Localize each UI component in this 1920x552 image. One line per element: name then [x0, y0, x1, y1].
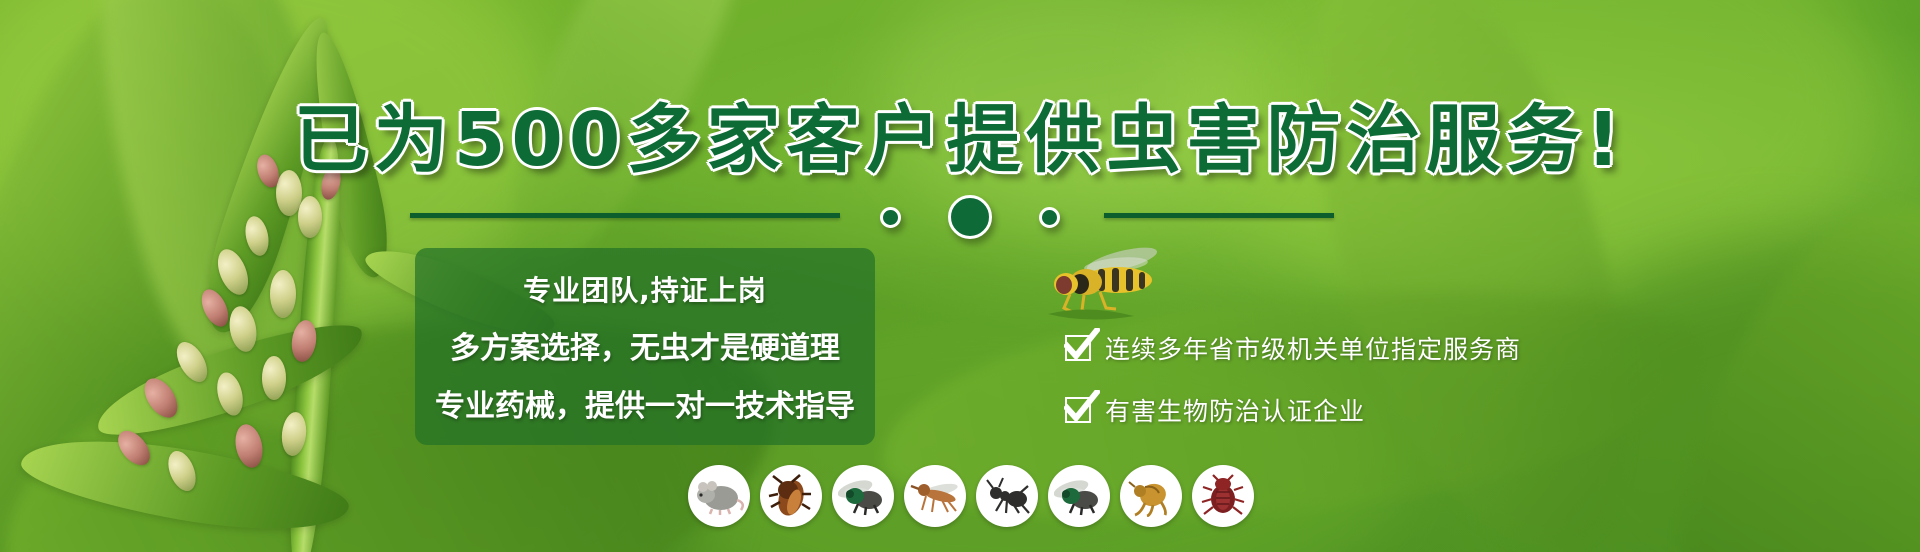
checklist-item-label: 有害生物防治认证企业: [1105, 392, 1365, 428]
plant-bud: [298, 196, 322, 238]
feature-panel-line-3: 专业药械，提供一对一技术指导: [435, 381, 855, 425]
feature-panel-line-1: 专业团队,持证上岗: [523, 269, 767, 309]
pest-icon-strip: [688, 465, 1254, 527]
bedbug-icon[interactable]: [1192, 465, 1254, 527]
feature-panel: 专业团队,持证上岗 多方案选择，无虫才是硬道理 专业药械，提供一对一技术指导: [415, 248, 875, 445]
checkmark-icon: [1065, 397, 1091, 423]
decorative-divider-left: [410, 213, 840, 218]
page-title: 已为500多家客户提供虫害防治服务!: [0, 80, 1920, 187]
checklist-item: 连续多年省市级机关单位指定服务商: [1065, 330, 1521, 366]
ant-icon[interactable]: [976, 465, 1038, 527]
fly-icon[interactable]: [832, 465, 894, 527]
credentials-checklist: 连续多年省市级机关单位指定服务商 有害生物防治认证企业: [1065, 330, 1521, 428]
checkmark-icon: [1065, 335, 1091, 361]
checklist-item-label: 连续多年省市级机关单位指定服务商: [1105, 330, 1521, 366]
decorative-dot-large: [948, 195, 992, 239]
decorative-divider-right: [1104, 213, 1334, 218]
flea-icon[interactable]: [1120, 465, 1182, 527]
blowfly-icon[interactable]: [1048, 465, 1110, 527]
cockroach-icon[interactable]: [760, 465, 822, 527]
decorative-dots: [880, 195, 1060, 239]
checklist-item: 有害生物防治认证企业: [1065, 392, 1521, 428]
mosquito-icon[interactable]: [904, 465, 966, 527]
pest-control-banner: 已为500多家客户提供虫害防治服务! 专业团队,持证上岗 多方案选择，无虫才是硬…: [0, 0, 1920, 552]
mouse-icon[interactable]: [688, 465, 750, 527]
plant-bud: [270, 270, 296, 318]
decorative-dot-small: [1039, 207, 1060, 228]
decorative-dot-small: [880, 207, 901, 228]
hoverfly-illustration: [1040, 240, 1170, 320]
plant-bud: [262, 356, 286, 400]
feature-panel-line-2: 多方案选择，无虫才是硬道理: [450, 323, 840, 367]
